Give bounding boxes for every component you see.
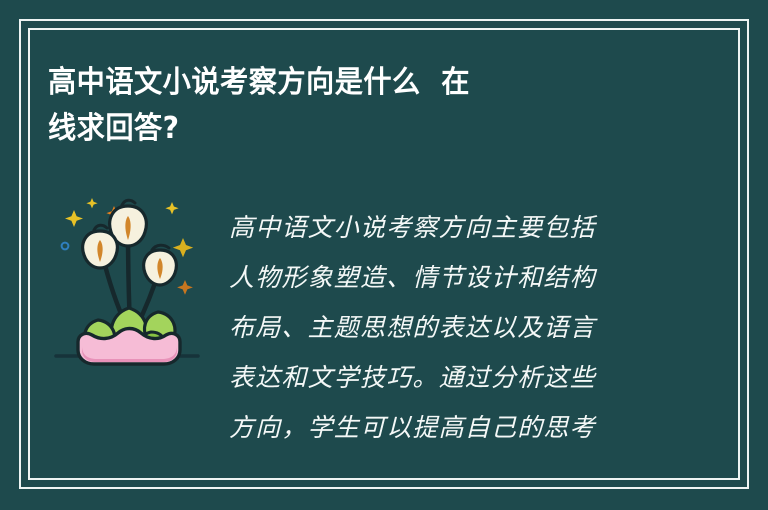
sparkle-star-amber-right — [177, 280, 193, 295]
title-line-2: 线求回答? — [48, 106, 621, 152]
body-line-1: 高中语文小说考察方向主要包括 — [229, 203, 659, 253]
body-line-3: 布局、主题思想的表达以及语言 — [229, 303, 659, 353]
bloom-center-tip — [122, 200, 135, 205]
potted-cotton-flowers-illustration — [52, 190, 202, 370]
answer-paragraph: 高中语文小说考察方向主要包括 人物形象塑造、情节设计和结构 布局、主题思想的表达… — [229, 203, 659, 453]
sparkle-star-gold-small — [86, 198, 97, 208]
sparkle-star-gold-top-right — [165, 202, 178, 214]
bloom-right — [144, 245, 177, 285]
poster-canvas: 高中语文小说考察方向是什么 在 线求回答? — [0, 0, 768, 510]
sparkle-star-gold-right — [173, 238, 193, 257]
body-line-4: 表达和文学技巧。通过分析这些 — [229, 353, 659, 403]
page-title: 高中语文小说考察方向是什么 在 线求回答? — [48, 60, 658, 152]
title-line-1: 高中语文小说考察方向是什么 在 — [48, 60, 621, 106]
sparkle-star-gold-left — [65, 210, 83, 227]
sparkle-dot-blue — [62, 243, 69, 250]
bloom-left-tip — [94, 225, 107, 230]
body-line-5: 方向，学生可以提高自己的思考 — [229, 403, 659, 453]
body-line-2: 人物形象塑造、情节设计和结构 — [229, 253, 659, 303]
